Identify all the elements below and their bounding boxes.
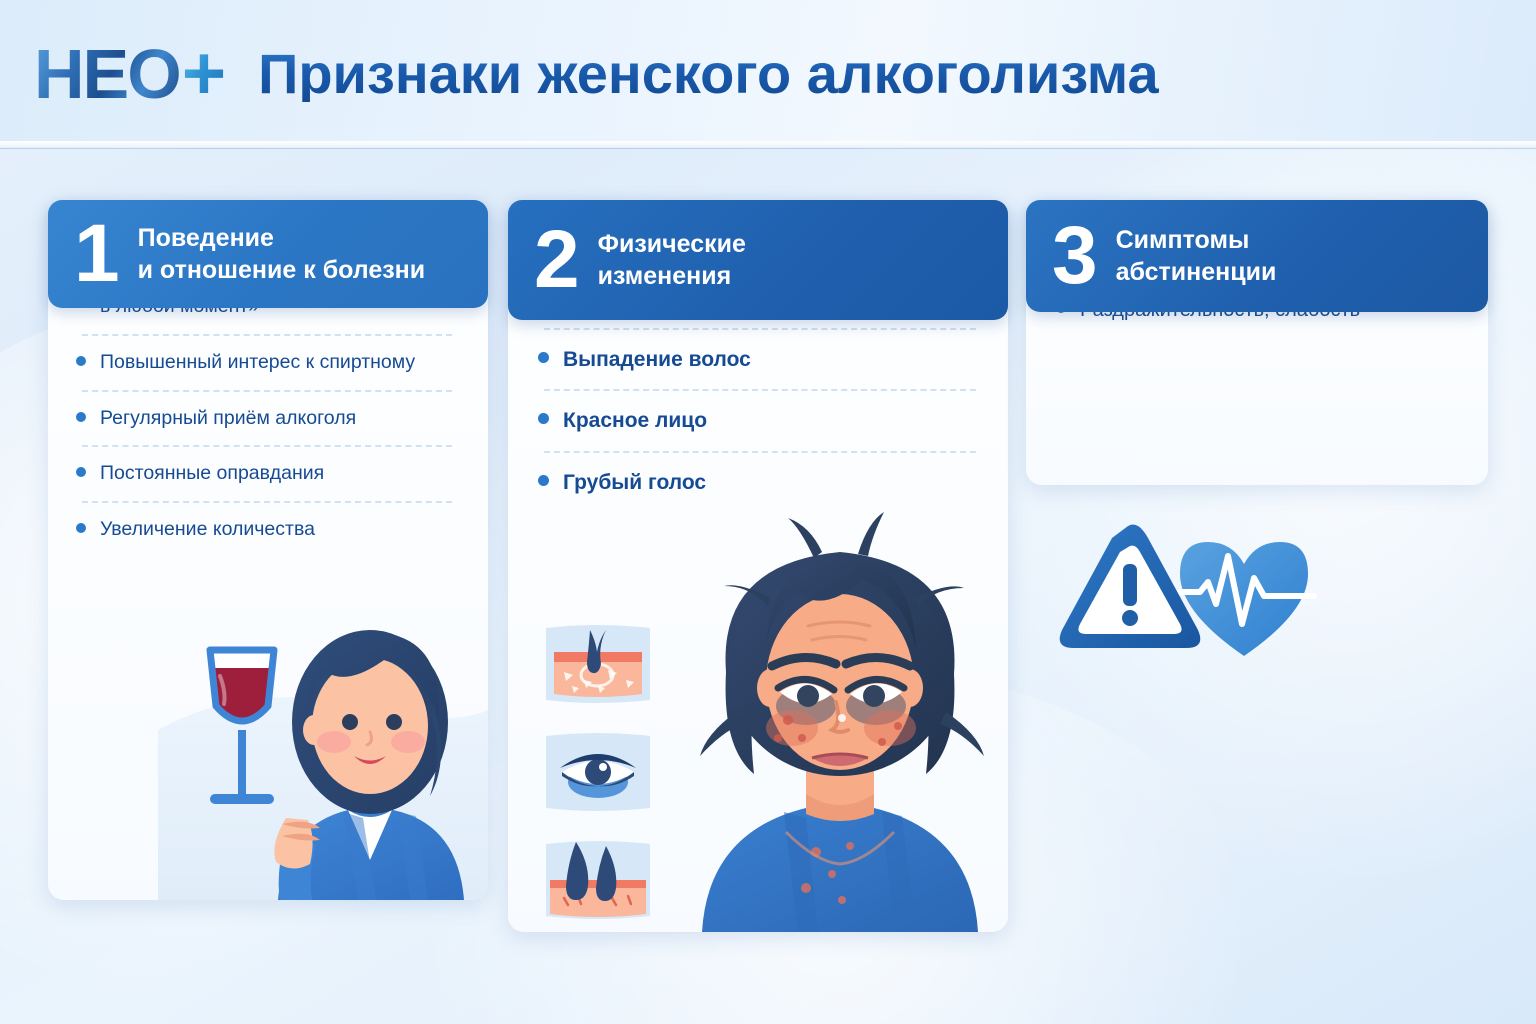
card-behavior-header: 1 Поведение и отношение к болезни bbox=[48, 200, 488, 308]
card-physical-header: 2 Физические изменения bbox=[508, 200, 1008, 320]
list-divider bbox=[82, 334, 452, 336]
list-divider bbox=[544, 328, 976, 330]
logo-plus-icon: + bbox=[182, 36, 224, 112]
list-item: Регулярный приём алкоголя bbox=[76, 405, 458, 433]
distressed-woman-illustration bbox=[666, 502, 1006, 932]
list-divider bbox=[544, 451, 976, 453]
list-item-label: Грубый голос bbox=[563, 468, 706, 498]
bullet-icon bbox=[538, 352, 549, 363]
card-number: 1 bbox=[74, 220, 118, 287]
bullet-icon bbox=[538, 413, 549, 424]
brand-logo: НЕО+ bbox=[34, 36, 224, 112]
list-divider bbox=[544, 389, 976, 391]
list-item-label: Повышенный интерес к спиртному bbox=[100, 349, 415, 377]
list-item: Увеличение количества bbox=[76, 516, 458, 544]
card-title: Поведение и отношение к болезни bbox=[138, 222, 444, 287]
card-title-line1: Симптомы bbox=[1116, 224, 1277, 257]
list-item-label: Регулярный приём алкоголя bbox=[100, 405, 356, 433]
card-physical: Сухая кожа и морщины Отёки под глазами В… bbox=[508, 200, 1008, 320]
list-item: Постоянные оправдания bbox=[76, 460, 458, 488]
card-title: Симптомы абстиненции bbox=[1116, 224, 1295, 289]
card-behavior: Отрицание проблемы: «пью, как все, могу … bbox=[48, 200, 488, 308]
bullet-icon bbox=[76, 467, 86, 477]
side-icon-eye-bags bbox=[540, 728, 656, 816]
page-title: Признаки женского алкоголизма bbox=[258, 46, 1159, 102]
card-withdrawal: Ухудшение состояния без дозы Раздражител… bbox=[1026, 200, 1488, 312]
list-divider bbox=[82, 501, 452, 503]
card-number: 2 bbox=[534, 226, 578, 293]
list-item-label: Увеличение количества bbox=[100, 516, 315, 544]
card-title-line1: Поведение bbox=[138, 222, 426, 255]
card-title-line1: Физические bbox=[598, 228, 746, 261]
infographic-page: НЕО+ Признаки женского алкоголизма bbox=[0, 0, 1536, 1024]
list-item-label: Красное лицо bbox=[563, 406, 707, 436]
card-withdrawal-header: 3 Симптомы абстиненции bbox=[1026, 200, 1488, 312]
list-divider bbox=[82, 445, 452, 447]
list-item-label: Выпадение волос bbox=[563, 345, 751, 375]
card-title-line2: изменения bbox=[598, 260, 746, 293]
warning-and-heartbeat-illustration bbox=[1052, 508, 1332, 668]
card-number: 3 bbox=[1052, 222, 1096, 289]
bullet-icon bbox=[538, 475, 549, 486]
side-icon-dry-skin bbox=[540, 620, 656, 708]
bullet-icon bbox=[76, 356, 86, 366]
list-item: Грубый голос bbox=[538, 468, 982, 498]
card-title-line2: и отношение к болезни bbox=[138, 254, 426, 287]
card-title: Физические изменения bbox=[598, 228, 764, 293]
list-divider bbox=[82, 390, 452, 392]
list-item: Повышенный интерес к спиртному bbox=[76, 349, 458, 377]
list-item-label: Постоянные оправдания bbox=[100, 460, 324, 488]
woman-with-wine-glass-illustration bbox=[158, 610, 488, 900]
list-item: Выпадение волос bbox=[538, 345, 982, 375]
card-title-line2: абстиненции bbox=[1116, 256, 1277, 289]
bullet-icon bbox=[76, 412, 86, 422]
list-item: Красное лицо bbox=[538, 406, 982, 436]
side-icon-hair-loss bbox=[540, 836, 656, 924]
page-header: НЕО+ Признаки женского алкоголизма bbox=[0, 0, 1536, 148]
bullet-icon bbox=[76, 523, 86, 533]
logo-text: НЕО bbox=[34, 39, 180, 109]
